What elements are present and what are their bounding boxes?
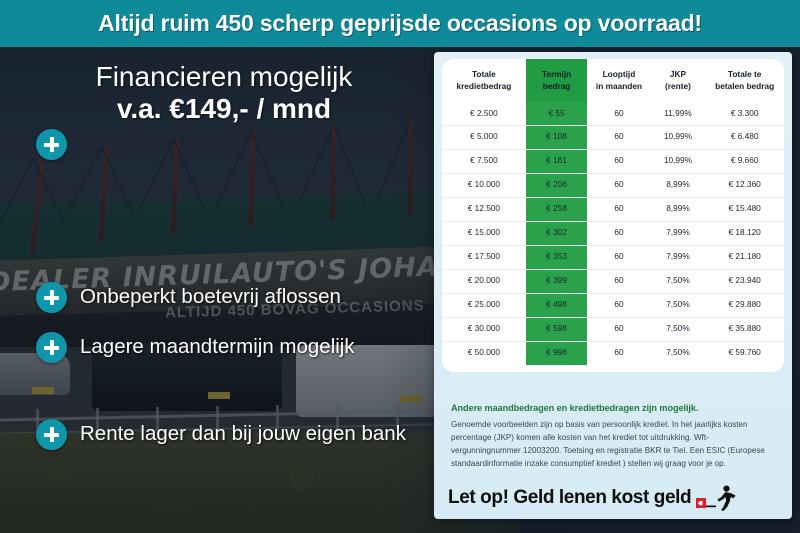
note-body: Genoemde voorbeelden zijn op basis van p… [451, 418, 769, 470]
feature-bullet-label: Rente lager dan bij jouw eigen bank [80, 423, 406, 446]
main-headline: Financieren mogelijk v.a. €149,- / mnd [0, 61, 434, 125]
cell-termijn: € 353 [526, 245, 588, 269]
cell-jkp: 8,99% [651, 173, 706, 197]
cell-looptijd: 60 [587, 102, 650, 125]
financing-info-panel: Totale kredietbedrag Termijn bedrag Loop… [434, 52, 792, 519]
cell-totaal: € 18.120 [705, 221, 784, 245]
cell-krediet: € 12.500 [442, 197, 526, 221]
cell-jkp: 7,99% [651, 221, 706, 245]
cell-jkp: 7,99% [651, 245, 706, 269]
plus-icon [36, 332, 67, 363]
cell-termijn: € 161 [526, 149, 588, 173]
cell-krediet: € 17.500 [442, 245, 526, 269]
cell-termijn: € 399 [526, 269, 588, 293]
cell-termijn: € 302 [526, 221, 588, 245]
left-content-column: Financieren mogelijk v.a. €149,- / mnd O… [0, 47, 434, 533]
rates-table-head: Totale kredietbedrag Termijn bedrag Loop… [442, 59, 784, 102]
cell-looptijd: 60 [587, 173, 650, 197]
cell-krediet: € 50.000 [442, 341, 526, 364]
top-banner: Altijd ruim 450 scherp geprijsde occasio… [0, 0, 800, 47]
cell-termijn: € 996 [526, 341, 588, 364]
cell-jkp: 8,99% [651, 197, 706, 221]
plus-icon [36, 129, 67, 160]
running-man-icon [695, 485, 737, 511]
cell-termijn: € 598 [526, 317, 588, 341]
cell-looptijd: 60 [587, 341, 650, 364]
feature-bullet-3: Rente lager dan bij jouw eigen bank [36, 419, 406, 450]
cell-termijn: € 108 [526, 125, 588, 149]
cell-looptijd: 60 [587, 197, 650, 221]
headline-line-2: v.a. €149,- / mnd [14, 92, 434, 125]
credit-warning: Let op! Geld lenen kost geld [448, 485, 778, 511]
advertisement-banner: DEALER INRUILAUTO'S JOHAN MEURE ALTIJD 4… [0, 0, 800, 533]
cell-termijn: € 55 [526, 102, 588, 125]
note-title: Andere maandbedragen en kredietbedragen … [451, 403, 771, 413]
cell-krediet: € 7.500 [442, 149, 526, 173]
cell-krediet: € 20.000 [442, 269, 526, 293]
plus-icon [36, 282, 67, 313]
cell-krediet: € 5.000 [442, 125, 526, 149]
feature-bullet-2: Lagere maandtermijn mogelijk [36, 332, 355, 363]
cell-looptijd: 60 [587, 149, 650, 173]
cell-totaal: € 9.660 [705, 149, 784, 173]
table-row: € 15.000 € 302 60 7,99% € 18.120 [442, 221, 784, 245]
table-row: € 50.000 € 996 60 7,50% € 59.760 [442, 341, 784, 364]
cell-looptijd: 60 [587, 269, 650, 293]
cell-totaal: € 15.480 [705, 197, 784, 221]
column-header-jkp: JKP (rente) [651, 59, 706, 102]
rates-table: Totale kredietbedrag Termijn bedrag Loop… [442, 59, 784, 365]
column-header-termijn: Termijn bedrag [526, 59, 588, 102]
cell-totaal: € 59.760 [705, 341, 784, 364]
table-header-row: Totale kredietbedrag Termijn bedrag Loop… [442, 59, 784, 102]
cell-krediet: € 2.500 [442, 102, 526, 125]
table-row: € 10.000 € 206 60 8,99% € 12.360 [442, 173, 784, 197]
rates-table-card: Totale kredietbedrag Termijn bedrag Loop… [442, 59, 784, 372]
cell-jkp: 10,99% [651, 125, 706, 149]
cell-totaal: € 3.300 [705, 102, 784, 125]
headline-line-1: Financieren mogelijk [14, 61, 434, 92]
feature-bullet-label: Onbeperkt boetevrij aflossen [80, 286, 341, 309]
column-header-totaal: Totale te betalen bedrag [705, 59, 784, 102]
cell-krediet: € 25.000 [442, 293, 526, 317]
cell-krediet: € 15.000 [442, 221, 526, 245]
table-row: € 17.500 € 353 60 7,99% € 21.180 [442, 245, 784, 269]
cell-looptijd: 60 [587, 125, 650, 149]
table-row: € 25.000 € 498 60 7,50% € 29.880 [442, 293, 784, 317]
cell-termijn: € 206 [526, 173, 588, 197]
cell-jkp: 7,50% [651, 293, 706, 317]
cell-totaal: € 12.360 [705, 173, 784, 197]
table-row: € 20.000 € 399 60 7,50% € 23.940 [442, 269, 784, 293]
cell-totaal: € 6.480 [705, 125, 784, 149]
table-row: € 2.500 € 55 60 11,99% € 3.300 [442, 102, 784, 125]
banner-headline: Altijd ruim 450 scherp geprijsde occasio… [98, 10, 702, 37]
cell-jkp: 7,50% [651, 317, 706, 341]
feature-bullet-1: Onbeperkt boetevrij aflossen [36, 282, 341, 313]
rates-table-body: € 2.500 € 55 60 11,99% € 3.300 € 5.000 €… [442, 102, 784, 364]
credit-warning-text: Let op! Geld lenen kost geld [448, 487, 691, 509]
cell-jkp: 7,50% [651, 269, 706, 293]
cell-totaal: € 21.180 [705, 245, 784, 269]
cell-totaal: € 35.880 [705, 317, 784, 341]
table-row: € 12.500 € 258 60 8,99% € 15.480 [442, 197, 784, 221]
table-row: € 7.500 € 161 60 10,99% € 9.660 [442, 149, 784, 173]
cell-jkp: 10,99% [651, 149, 706, 173]
cell-jkp: 7,50% [651, 341, 706, 364]
plus-icon [36, 419, 67, 450]
column-header-looptijd: Looptijd in maanden [587, 59, 650, 102]
cell-looptijd: 60 [587, 221, 650, 245]
feature-bullet-label: Lagere maandtermijn mogelijk [80, 336, 355, 359]
cell-jkp: 11,99% [651, 102, 706, 125]
cell-totaal: € 29.880 [705, 293, 784, 317]
cell-termijn: € 498 [526, 293, 588, 317]
cell-totaal: € 23.940 [705, 269, 784, 293]
cell-looptijd: 60 [587, 293, 650, 317]
cell-krediet: € 10.000 [442, 173, 526, 197]
cell-krediet: € 30.000 [442, 317, 526, 341]
column-header-krediet: Totale kredietbedrag [442, 59, 526, 102]
cell-looptijd: 60 [587, 245, 650, 269]
cell-termijn: € 258 [526, 197, 588, 221]
headline-plus-marker [36, 129, 67, 160]
cell-looptijd: 60 [587, 317, 650, 341]
table-row: € 5.000 € 108 60 10,99% € 6.480 [442, 125, 784, 149]
table-row: € 30.000 € 598 60 7,50% € 35.880 [442, 317, 784, 341]
